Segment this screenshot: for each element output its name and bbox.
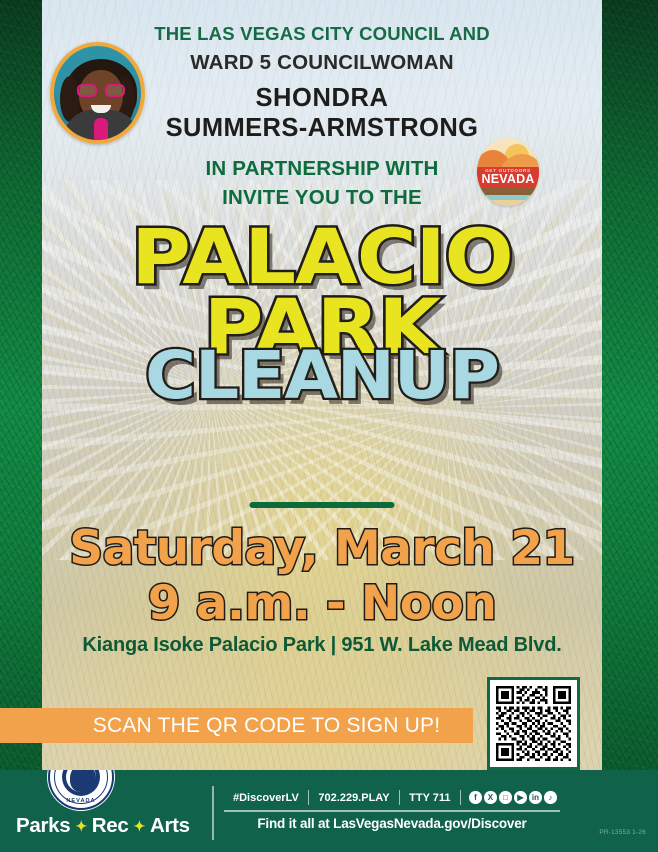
social-links: f X □ ▶ in ♪	[461, 791, 557, 804]
council-line: THE LAS VEGAS CITY COUNCIL AND	[42, 23, 602, 45]
city-of-las-vegas-seal: CITY OF LAS VEGAS NEVADA	[48, 770, 114, 810]
cta-label: SCAN THE QR CODE TO SIGN UP!	[33, 714, 441, 738]
logo-name: NEVADA	[477, 173, 539, 186]
linkedin-icon[interactable]: in	[529, 791, 542, 804]
facebook-icon[interactable]: f	[469, 791, 482, 804]
wordmark-arts: Arts	[150, 814, 190, 838]
star-separator-icon: ✦	[75, 819, 86, 833]
hero-divider-rule	[250, 502, 395, 508]
print-code: PR-13553 1-26	[599, 829, 646, 836]
parks-rec-arts-wordmark: Parks ✦ Rec ✦ Arts	[16, 814, 190, 838]
footer-horizontal-rule	[224, 810, 560, 812]
footer-vertical-divider	[212, 786, 214, 840]
wordmark-parks: Parks	[16, 814, 70, 838]
phone-number[interactable]: 702.229.PLAY	[309, 792, 398, 804]
event-title-line2: CLEANUP	[28, 345, 616, 408]
avatar-glasses-icon	[77, 84, 125, 97]
hashtag-discoverlv[interactable]: #DiscoverLV	[224, 792, 308, 804]
x-icon[interactable]: X	[484, 791, 497, 804]
seal-bottom-text: NEVADA	[50, 798, 112, 804]
get-outdoors-nevada-logo: GET OUTDOORS NEVADA	[477, 138, 539, 206]
avatar-scarf	[94, 118, 108, 144]
wordmark-rec: Rec	[92, 814, 129, 838]
event-time: 9 a.m. - Noon	[42, 580, 602, 628]
footer-website-line[interactable]: Find it all at LasVegasNevada.gov/Discov…	[224, 816, 560, 831]
tiktok-icon[interactable]: ♪	[544, 791, 557, 804]
youtube-icon[interactable]: ▶	[514, 791, 527, 804]
logo-sand-band	[477, 200, 539, 206]
footer-bar: CITY OF LAS VEGAS NEVADA Parks ✦ Rec ✦ A…	[0, 770, 658, 852]
seal-emblem	[70, 770, 96, 792]
footer-contact-row: #DiscoverLV 702.229.PLAY TTY 711 f X □ ▶…	[224, 790, 564, 805]
event-venue: Kianga Isoke Palacio Park | 951 W. Lake …	[42, 634, 602, 657]
star-separator-icon-2: ✦	[134, 819, 145, 833]
councilwoman-headshot-avatar	[50, 42, 145, 144]
qr-code[interactable]	[487, 677, 580, 770]
tty-number[interactable]: TTY 711	[400, 792, 459, 804]
scan-qr-cta-banner: SCAN THE QR CODE TO SIGN UP!	[0, 708, 473, 743]
event-date: Saturday, March 21	[42, 525, 602, 573]
flyer-canvas: THE LAS VEGAS CITY COUNCIL AND WARD 5 CO…	[0, 0, 658, 852]
instagram-icon[interactable]: □	[499, 791, 512, 804]
